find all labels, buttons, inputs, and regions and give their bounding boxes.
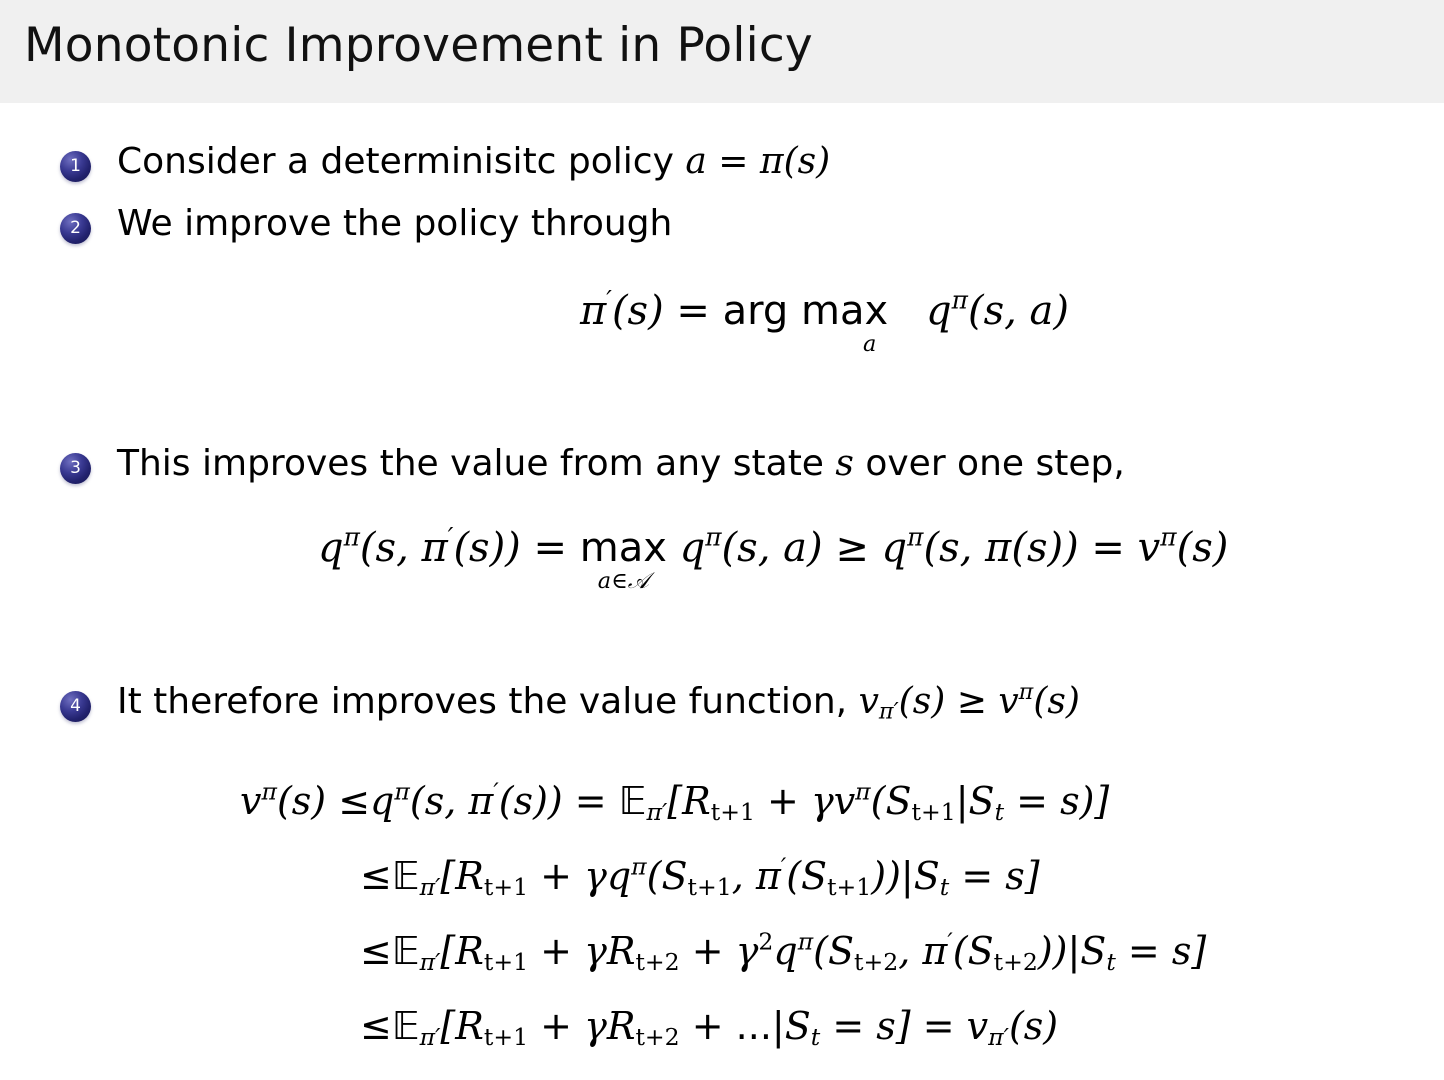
list-item-3-label-before: This improves the value from any state [117, 443, 835, 484]
list-item-1: 1 Consider a determinisitc policy a = π(… [60, 143, 830, 182]
derivation-line-3: ≤𝔼π′[Rt+1 + γRt+2 + γ2qπ(St+2, π′(St+2))… [240, 913, 1206, 988]
equation-2-content: qπ(s, π′(s)) = maxa∈𝒜 qπ(s, a) ≥ qπ(s, π… [318, 525, 1228, 571]
page-title: Monotonic Improvement in Policy [24, 18, 813, 73]
list-item-4: 4 It therefore improves the value functi… [60, 683, 1080, 722]
derivation-line-4-content: ≤𝔼π′[Rt+1 + γRt+2 + ...|St = s] = vπ′(s) [360, 1007, 1058, 1045]
list-marker-3: 3 [60, 453, 91, 484]
list-item-1-math: a = π(s) [685, 141, 830, 182]
list-item-3-math: s [835, 443, 853, 484]
derivation-line-3-content: ≤𝔼π′[Rt+1 + γRt+2 + γ2qπ(St+2, π′(St+2))… [360, 932, 1206, 970]
list-item-2-text: We improve the policy through [117, 205, 672, 243]
list-item-4-text: It therefore improves the value function… [117, 683, 1080, 721]
slide-header: Monotonic Improvement in Policy [0, 0, 1444, 103]
list-marker-2: 2 [60, 213, 91, 244]
list-item-1-label: Consider a determinisitc policy [117, 141, 685, 182]
display-equation-1: π′(s) = arg max maxa qπ(s, a) [580, 288, 1069, 357]
list-item-3: 3 This improves the value from any state… [60, 445, 1125, 484]
derivation-line-1-content: vπ(s) ≤qπ(s, π′(s)) = 𝔼π′[Rt+1 + γvπ(St+… [240, 782, 1109, 820]
list-marker-4: 4 [60, 691, 91, 722]
derivation-line-2-content: ≤𝔼π′[Rt+1 + γqπ(St+1, π′(St+1))|St = s] [360, 857, 1040, 895]
list-item-1-text: Consider a determinisitc policy a = π(s) [117, 143, 830, 181]
list-item-4-label: It therefore improves the value function… [117, 681, 859, 722]
list-item-3-text: This improves the value from any state s… [117, 445, 1125, 483]
derivation-line-2: ≤𝔼π′[Rt+1 + γqπ(St+1, π′(St+1))|St = s] [240, 838, 1206, 913]
derivation-block: vπ(s) ≤qπ(s, π′(s)) = 𝔼π′[Rt+1 + γvπ(St+… [240, 763, 1206, 1063]
display-equation-2: qπ(s, π′(s)) = maxa∈𝒜 qπ(s, a) ≥ qπ(s, π… [318, 525, 1228, 594]
list-marker-1: 1 [60, 151, 91, 182]
derivation-line-4: ≤𝔼π′[Rt+1 + γRt+2 + ...|St = s] = vπ′(s) [240, 988, 1206, 1063]
list-item-2: 2 We improve the policy through [60, 205, 672, 244]
equation-1-content: π′(s) = arg max maxa qπ(s, a) [580, 288, 1069, 334]
slide-body: 1 Consider a determinisitc policy a = π(… [0, 103, 1444, 1080]
derivation-line-1: vπ(s) ≤qπ(s, π′(s)) = 𝔼π′[Rt+1 + γvπ(St+… [240, 763, 1206, 838]
list-item-3-label-after: over one step, [854, 443, 1125, 484]
list-item-4-math: vπ′(s) ≥ vπ(s) [859, 681, 1080, 722]
